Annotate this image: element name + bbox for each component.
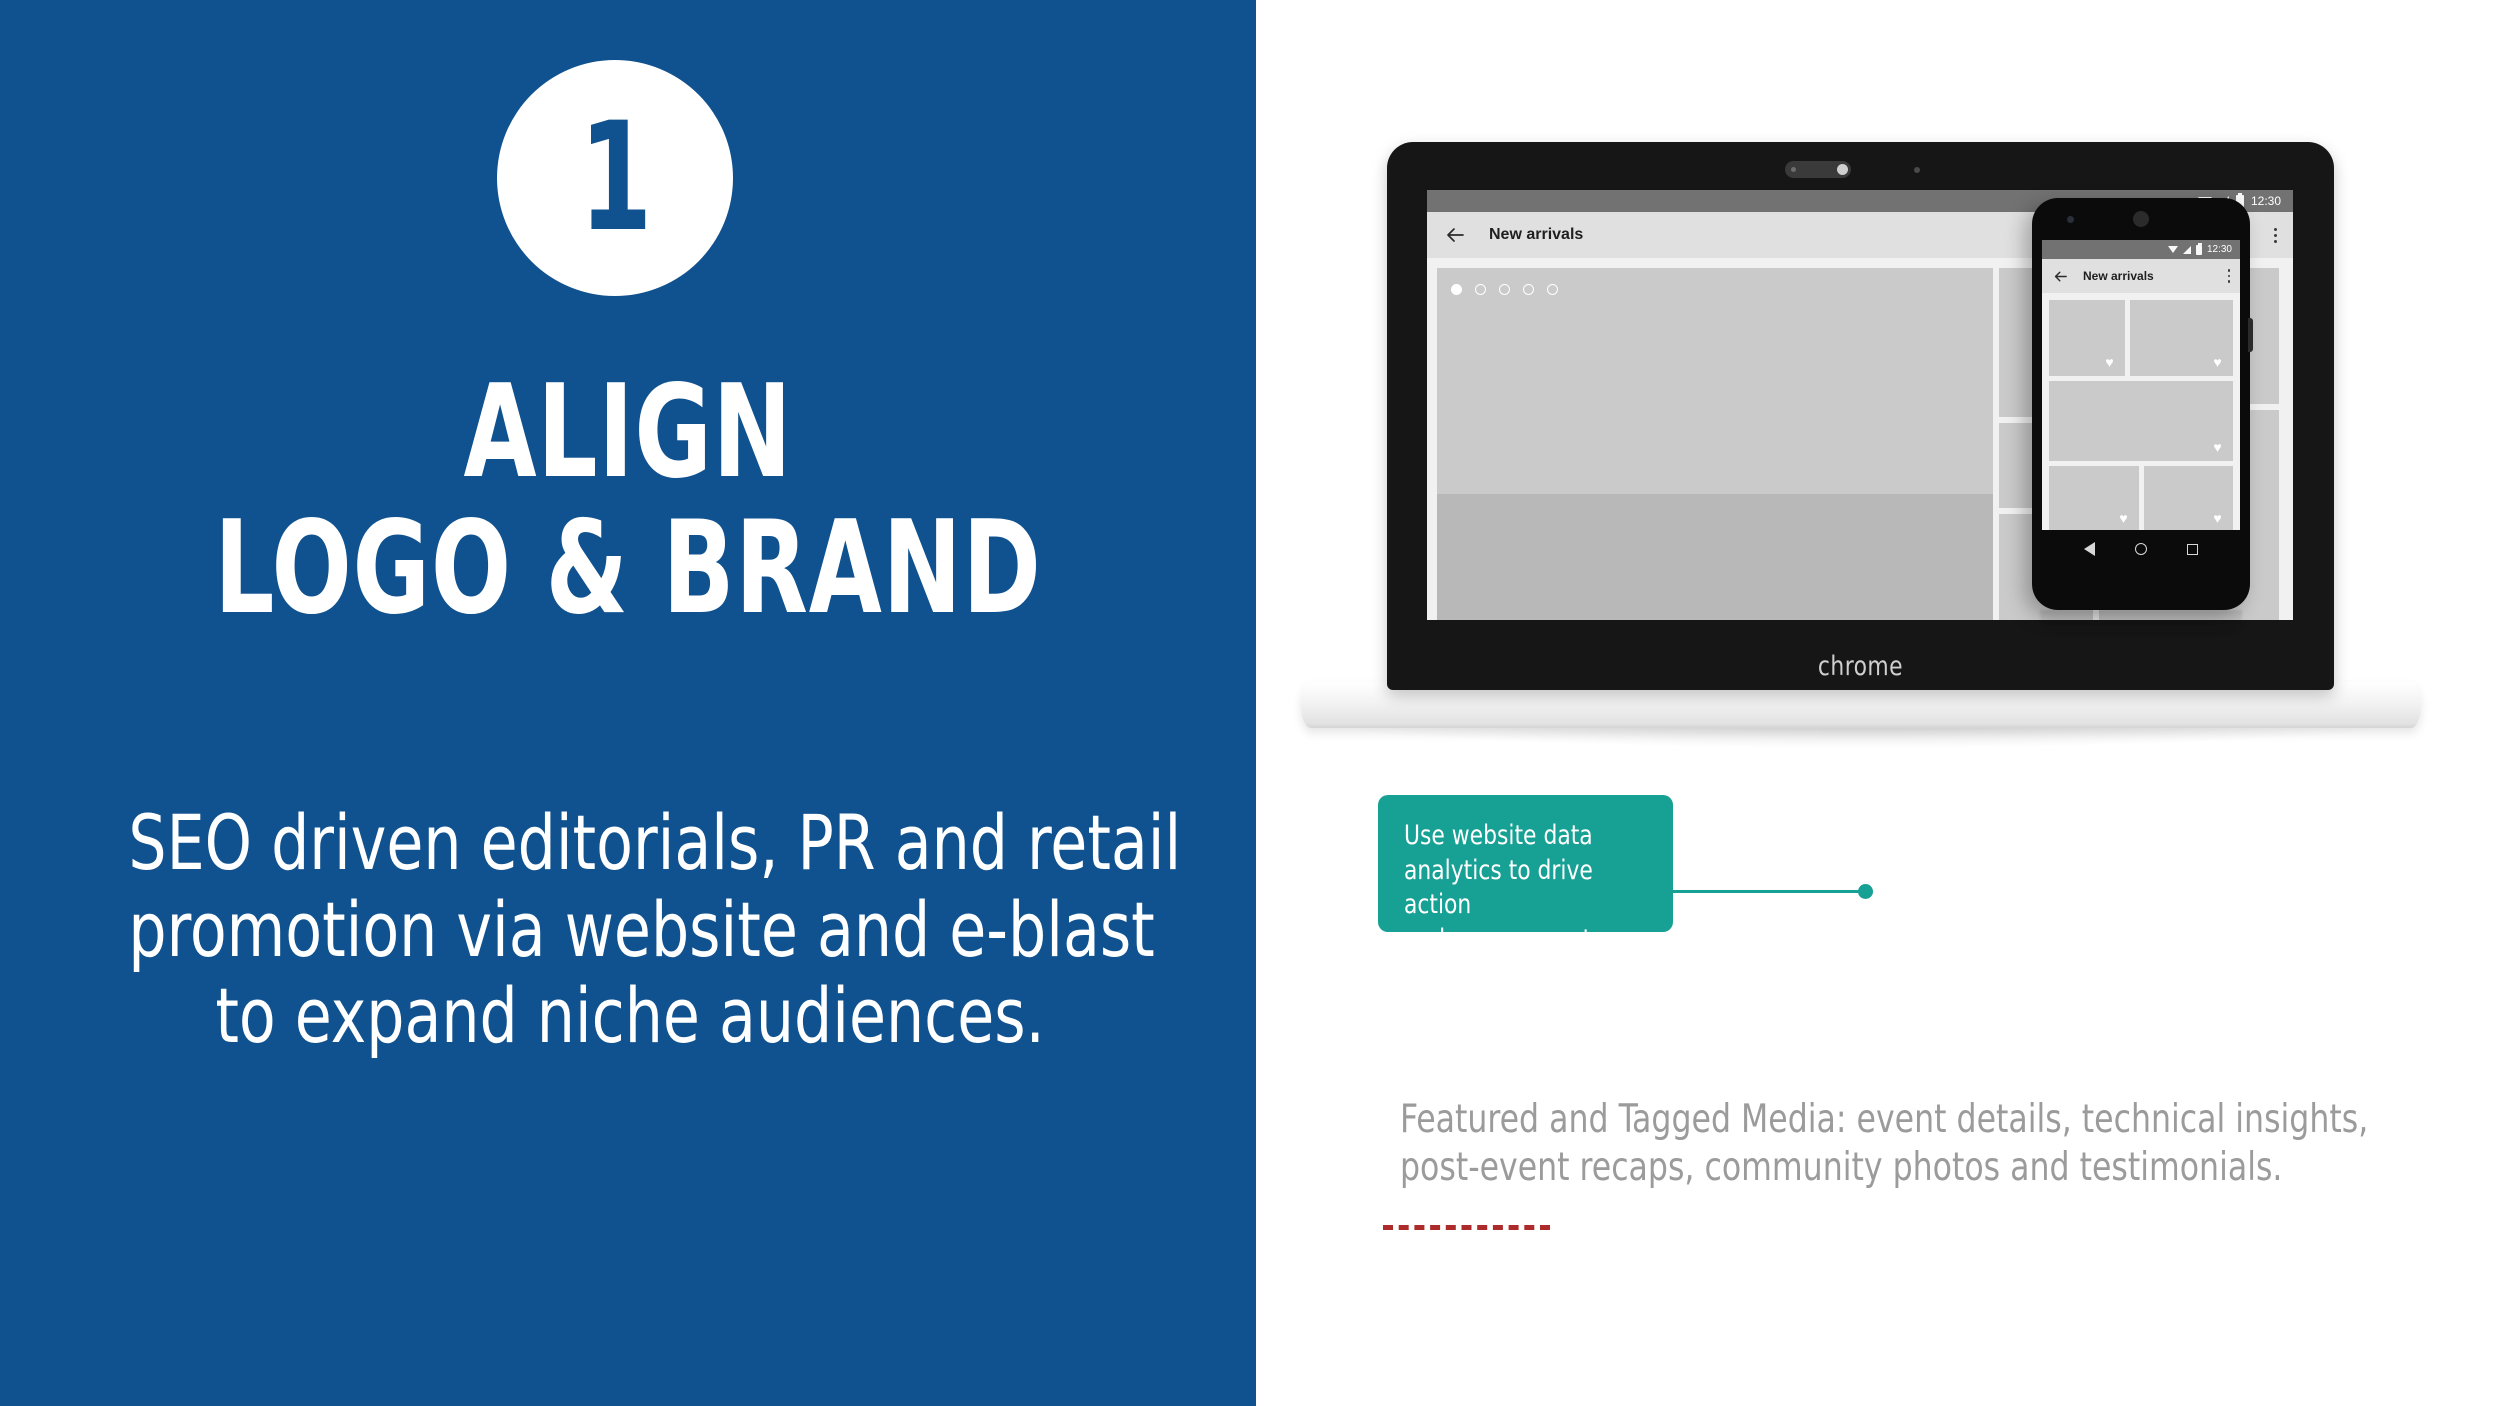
- callout-connector-line: [1673, 890, 1866, 893]
- carousel-dot-2[interactable]: [1475, 284, 1486, 295]
- headline-line-1: ALIGN: [113, 372, 1143, 494]
- card-row: ♥ ♥: [2049, 300, 2233, 376]
- phone-body: 12:30 New arrivals: [2032, 198, 2250, 610]
- hero-carousel-footer: [1437, 494, 1993, 620]
- card-row: ♥ ♥: [2049, 466, 2233, 530]
- heart-icon[interactable]: ♥: [2211, 441, 2224, 454]
- overflow-menu-icon[interactable]: [2274, 228, 2277, 243]
- phone-status-bar: 12:30: [2042, 240, 2240, 259]
- step-number-text: 1: [579, 103, 651, 253]
- arrow-left-icon[interactable]: [1443, 223, 1467, 247]
- volume-button[interactable]: [2248, 318, 2253, 352]
- hero-carousel[interactable]: [1437, 268, 1993, 620]
- caption-dashed-rule: [1383, 1225, 1550, 1230]
- callout-connector-knob: [1858, 884, 1873, 899]
- list-item[interactable]: ♥: [2144, 466, 2233, 530]
- list-item[interactable]: ♥: [2130, 300, 2233, 376]
- battery-icon: [2196, 245, 2202, 255]
- heart-icon[interactable]: ♥: [2117, 512, 2130, 525]
- earpiece-icon: [2133, 211, 2149, 227]
- caption-text: Featured and Tagged Media: event details…: [1400, 1096, 2480, 1191]
- app-bar-title: New arrivals: [1489, 226, 1583, 244]
- laptop-brand-label: chrome: [1434, 651, 2286, 682]
- right-white-panel: 12:30 New arrivals: [1256, 0, 2500, 1406]
- callout-line-1: Use website data: [1404, 819, 1623, 854]
- arrow-left-icon[interactable]: [2052, 268, 2069, 285]
- nav-back-icon[interactable]: [2084, 542, 2095, 556]
- carousel-dot-3[interactable]: [1499, 284, 1510, 295]
- list-item[interactable]: ♥: [2049, 300, 2125, 376]
- left-blue-panel: 1 ALIGN LOGO & BRAND SEO driven editoria…: [0, 0, 1256, 1406]
- subtitle-copy: SEO driven editorials, PR and retail pro…: [60, 800, 1200, 1060]
- wifi-icon: [2168, 246, 2178, 253]
- subcopy-line-2: promotion via website and e-blast: [128, 887, 1131, 974]
- app-bar-title: New arrivals: [2083, 269, 2154, 283]
- callout-line-2: analytics to drive action: [1404, 854, 1623, 923]
- headline-line-2: LOGO & BRAND: [113, 508, 1143, 630]
- carousel-dot-4[interactable]: [1523, 284, 1534, 295]
- heart-icon[interactable]: ♥: [2103, 356, 2116, 369]
- webcam-icon: [1785, 161, 1851, 178]
- heart-icon[interactable]: ♥: [2211, 512, 2224, 525]
- phone-reflection: [2040, 610, 2242, 636]
- phone-mockup: 12:30 New arrivals: [2032, 198, 2250, 610]
- status-bar-time: 12:30: [2251, 194, 2281, 208]
- slide-canvas: 1 ALIGN LOGO & BRAND SEO driven editoria…: [0, 0, 2500, 1406]
- subcopy-line-3: to expand niche audiences.: [128, 973, 1131, 1060]
- overflow-menu-icon[interactable]: [2228, 269, 2231, 283]
- signal-icon: [2183, 246, 2191, 254]
- phone-app-bar: New arrivals: [2042, 259, 2240, 293]
- phone-nav-bar: [2042, 530, 2240, 568]
- carousel-dots[interactable]: [1451, 284, 1558, 295]
- subcopy-line-1: SEO driven editorials, PR and retail: [128, 800, 1131, 887]
- list-item[interactable]: ♥: [2049, 381, 2233, 461]
- callout-line-3: and engagement: [1404, 923, 1623, 958]
- card-row: ♥: [2049, 381, 2233, 461]
- phone-screen: 12:30 New arrivals: [2042, 240, 2240, 530]
- carousel-dot-1[interactable]: [1451, 284, 1462, 295]
- list-item[interactable]: ♥: [2049, 466, 2139, 530]
- carousel-dot-5[interactable]: [1547, 284, 1558, 295]
- callout-box: Use website data analytics to drive acti…: [1378, 795, 1673, 932]
- nav-home-icon[interactable]: [2135, 543, 2147, 555]
- phone-content-grid: ♥ ♥ ♥ ♥: [2042, 293, 2240, 530]
- step-number-badge: 1: [497, 60, 733, 296]
- caption-line-1: Featured and Tagged Media: event details…: [1400, 1096, 2372, 1144]
- caption-line-2: post-event recaps, community photos and …: [1400, 1144, 2372, 1192]
- microphone-icon: [1914, 167, 1920, 173]
- front-camera-icon: [2067, 216, 2074, 223]
- heart-icon[interactable]: ♥: [2211, 356, 2224, 369]
- nav-recents-icon[interactable]: [2187, 544, 2198, 555]
- status-bar-time: 12:30: [2207, 244, 2232, 255]
- page-title: ALIGN LOGO & BRAND: [0, 372, 1256, 629]
